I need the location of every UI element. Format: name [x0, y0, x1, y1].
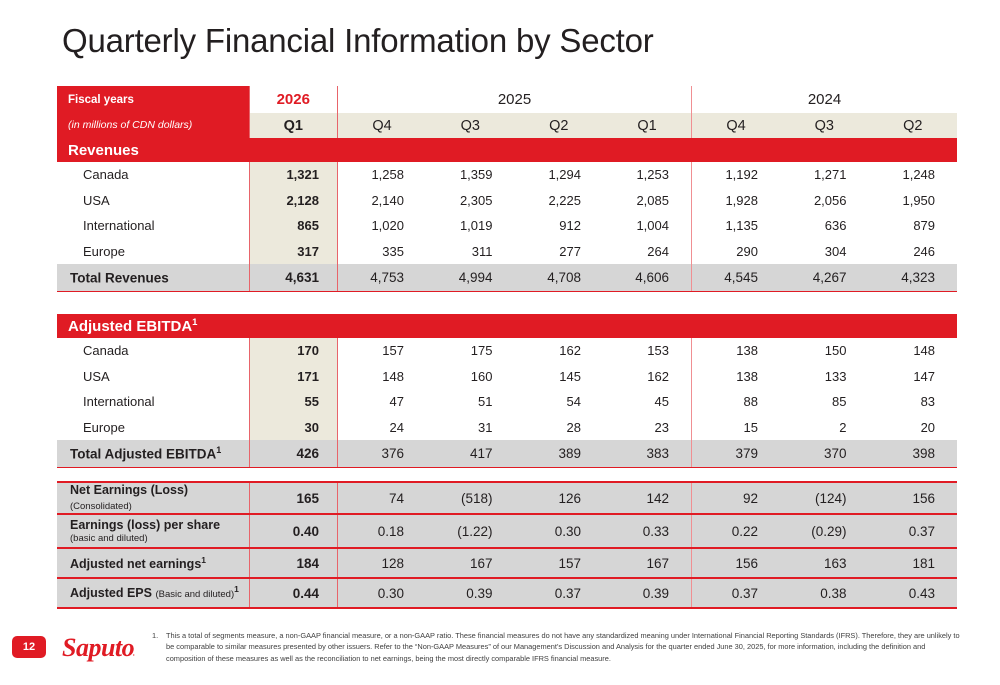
summary-sub-block: (basic and diluted) [70, 534, 249, 545]
table-row: USA 2,128 2,140 2,305 2,225 2,085 1,928 … [57, 188, 957, 214]
adj-eps-2025q4: 0.30 [338, 578, 427, 608]
summary-footnote-marker: 1 [201, 555, 206, 565]
total-ebitda-2025q1: 383 [603, 440, 692, 468]
cell-ebitda-international-2024q3: 85 [780, 389, 869, 415]
cell-revenues-canada-2025q4: 1,258 [338, 162, 427, 188]
summary-row-net-earnings: Net Earnings (Loss) (Consolidated) 165 7… [57, 482, 957, 514]
footnote-number: 1. [152, 630, 158, 641]
quarter-header-2025-q1: Q1 [603, 113, 692, 138]
cell-ebitda-europe-2026q1: 30 [249, 415, 338, 441]
cell-revenues-usa-2025q2: 2,225 [515, 188, 604, 214]
summary-sub-inline: (Basic and diluted) [155, 590, 234, 601]
summary-label-text: Earnings (loss) per share [70, 518, 220, 532]
adj-net-earnings-2025q2: 157 [515, 548, 604, 578]
cell-ebitda-canada-2024q2: 148 [869, 338, 958, 364]
page-number-badge: 12 [12, 636, 46, 658]
adj-net-earnings-2025q3: 167 [426, 548, 515, 578]
row-label-revenues-international: International [57, 213, 249, 239]
eps-2025q4: 0.18 [338, 514, 427, 548]
cell-ebitda-usa-2024q2: 147 [869, 364, 958, 390]
total-revenues-2025q3: 4,994 [426, 264, 515, 292]
cell-ebitda-international-2024q2: 83 [869, 389, 958, 415]
net-earnings-2025q4: 74 [338, 482, 427, 514]
quarter-header-2024-q4: Q4 [692, 113, 781, 138]
cell-ebitda-europe-2025q1: 23 [603, 415, 692, 441]
footnote: 1. This a total of segments measure, a n… [152, 630, 960, 664]
net-earnings-2024q3: (124) [780, 482, 869, 514]
header-year-row: Fiscal years (in millions of CDN dollars… [57, 86, 957, 113]
cell-revenues-international-2024q2: 879 [869, 213, 958, 239]
cell-ebitda-canada-2026q1: 170 [249, 338, 338, 364]
summary-label-text: Adjusted net earnings [70, 557, 201, 571]
row-label-revenues-canada: Canada [57, 162, 249, 188]
cell-ebitda-usa-2024q4: 138 [692, 364, 781, 390]
section-footnote-marker: 1 [192, 317, 197, 328]
units-label: (in millions of CDN dollars) [68, 119, 249, 131]
total-revenues-2025q2: 4,708 [515, 264, 604, 292]
total-revenues-2025q4: 4,753 [338, 264, 427, 292]
cell-revenues-usa-2026q1: 2,128 [249, 188, 338, 214]
cell-ebitda-usa-2025q3: 160 [426, 364, 515, 390]
total-label-text: Total Adjusted EBITDA [70, 447, 216, 462]
cell-revenues-europe-2026q1: 317 [249, 239, 338, 265]
cell-revenues-international-2024q3: 636 [780, 213, 869, 239]
fiscal-years-label: Fiscal years [68, 94, 249, 106]
cell-ebitda-europe-2024q2: 20 [869, 415, 958, 441]
quarter-header-2026-q1: Q1 [249, 113, 338, 138]
total-ebitda-2024q3: 370 [780, 440, 869, 468]
total-revenues-2024q4: 4,545 [692, 264, 781, 292]
total-label-text: Total Revenues [70, 271, 169, 286]
cell-revenues-canada-2024q3: 1,271 [780, 162, 869, 188]
adj-eps-2025q3: 0.39 [426, 578, 515, 608]
year-header-2025: 2025 [338, 86, 692, 113]
adj-net-earnings-2024q2: 181 [869, 548, 958, 578]
table-row: USA 171 148 160 145 162 138 133 147 [57, 364, 957, 390]
cell-revenues-europe-2025q1: 264 [603, 239, 692, 265]
section-header-adjusted-ebitda: Adjusted EBITDA1 [57, 314, 957, 338]
total-revenues-2024q3: 4,267 [780, 264, 869, 292]
summary-label-text: Net Earnings (Loss) [70, 483, 188, 497]
cell-ebitda-canada-2025q3: 175 [426, 338, 515, 364]
cell-revenues-canada-2026q1: 1,321 [249, 162, 338, 188]
row-label-revenues-europe: Europe [57, 239, 249, 265]
summary-label-text: Adjusted EPS [70, 587, 152, 601]
logo-text: Saputo [62, 633, 134, 662]
summary-label-eps: Earnings (loss) per share (basic and dil… [57, 514, 249, 548]
summary-label-adjusted-eps: Adjusted EPS (Basic and diluted)1 [57, 578, 249, 608]
row-label-ebitda-europe: Europe [57, 415, 249, 441]
footnote-text: This a total of segments measure, a non-… [152, 630, 960, 664]
cell-revenues-international-2026q1: 865 [249, 213, 338, 239]
cell-revenues-canada-2025q2: 1,294 [515, 162, 604, 188]
cell-ebitda-international-2025q3: 51 [426, 389, 515, 415]
cell-revenues-canada-2025q3: 1,359 [426, 162, 515, 188]
adj-eps-2024q2: 0.43 [869, 578, 958, 608]
row-label-ebitda-international: International [57, 389, 249, 415]
cell-ebitda-usa-2025q4: 148 [338, 364, 427, 390]
table-row: Europe 317 335 311 277 264 290 304 246 [57, 239, 957, 265]
section-title-adjusted-ebitda: Adjusted EBITDA1 [57, 314, 957, 338]
cell-revenues-usa-2024q3: 2,056 [780, 188, 869, 214]
cell-revenues-usa-2024q4: 1,928 [692, 188, 781, 214]
quarter-header-2024-q3: Q3 [780, 113, 869, 138]
section-title-revenues: Revenues [57, 138, 957, 162]
fiscal-years-label-block: Fiscal years (in millions of CDN dollars… [57, 86, 249, 138]
total-label-adjusted-ebitda: Total Adjusted EBITDA1 [57, 440, 249, 468]
cell-ebitda-europe-2025q3: 31 [426, 415, 515, 441]
cell-ebitda-canada-2024q3: 150 [780, 338, 869, 364]
quarter-header-2025-q2: Q2 [515, 113, 604, 138]
total-revenues-2025q1: 4,606 [603, 264, 692, 292]
adj-net-earnings-2025q4: 128 [338, 548, 427, 578]
cell-ebitda-usa-2025q2: 145 [515, 364, 604, 390]
cell-ebitda-europe-2024q4: 15 [692, 415, 781, 441]
summary-label-adjusted-net-earnings: Adjusted net earnings1 [57, 548, 249, 578]
cell-ebitda-europe-2025q2: 28 [515, 415, 604, 441]
summary-spacer [57, 468, 957, 483]
total-row-adjusted-ebitda: Total Adjusted EBITDA1 426 376 417 389 3… [57, 440, 957, 468]
cell-revenues-usa-2025q1: 2,085 [603, 188, 692, 214]
total-revenues-2024q2: 4,323 [869, 264, 958, 292]
table-row: Canada 1,321 1,258 1,359 1,294 1,253 1,1… [57, 162, 957, 188]
table-row: Canada 170 157 175 162 153 138 150 148 [57, 338, 957, 364]
summary-label-net-earnings: Net Earnings (Loss) (Consolidated) [57, 482, 249, 514]
eps-2024q2: 0.37 [869, 514, 958, 548]
eps-2024q3: (0.29) [780, 514, 869, 548]
cell-revenues-europe-2025q2: 277 [515, 239, 604, 265]
cell-revenues-europe-2024q2: 246 [869, 239, 958, 265]
net-earnings-2024q2: 156 [869, 482, 958, 514]
cell-revenues-canada-2024q4: 1,192 [692, 162, 781, 188]
net-earnings-2026q1: 165 [249, 482, 338, 514]
table-row: International 865 1,020 1,019 912 1,004 … [57, 213, 957, 239]
spacer-cell [57, 292, 957, 315]
total-ebitda-2025q3: 417 [426, 440, 515, 468]
total-ebitda-2026q1: 426 [249, 440, 338, 468]
summary-footnote-marker: 1 [234, 584, 239, 594]
cell-ebitda-usa-2024q3: 133 [780, 364, 869, 390]
cell-revenues-canada-2024q2: 1,248 [869, 162, 958, 188]
cell-revenues-europe-2025q4: 335 [338, 239, 427, 265]
eps-2026q1: 0.40 [249, 514, 338, 548]
saputo-logo: Saputo [62, 633, 134, 663]
quarter-header-2024-q2: Q2 [869, 113, 958, 138]
table-row: Europe 30 24 31 28 23 15 2 20 [57, 415, 957, 441]
cell-revenues-international-2024q4: 1,135 [692, 213, 781, 239]
cell-ebitda-international-2025q2: 54 [515, 389, 604, 415]
table-row: International 55 47 51 54 45 88 85 83 [57, 389, 957, 415]
quarterly-financial-table: Fiscal years (in millions of CDN dollars… [57, 86, 957, 609]
row-label-ebitda-usa: USA [57, 364, 249, 390]
adj-eps-2024q3: 0.38 [780, 578, 869, 608]
net-earnings-2024q4: 92 [692, 482, 781, 514]
year-header-2026: 2026 [249, 86, 338, 113]
summary-row-eps: Earnings (loss) per share (basic and dil… [57, 514, 957, 548]
cell-ebitda-europe-2025q4: 24 [338, 415, 427, 441]
summary-row-adjusted-net-earnings: Adjusted net earnings1 184 128 167 157 1… [57, 548, 957, 578]
adj-net-earnings-2024q3: 163 [780, 548, 869, 578]
cell-revenues-usa-2025q3: 2,305 [426, 188, 515, 214]
cell-revenues-canada-2025q1: 1,253 [603, 162, 692, 188]
cell-revenues-international-2025q3: 1,019 [426, 213, 515, 239]
section-label: Revenues [68, 142, 139, 159]
section-spacer [57, 292, 957, 315]
adj-eps-2024q4: 0.37 [692, 578, 781, 608]
adj-net-earnings-2024q4: 156 [692, 548, 781, 578]
total-ebitda-2025q4: 376 [338, 440, 427, 468]
section-label: Adjusted EBITDA [68, 318, 192, 335]
adj-eps-2026q1: 0.44 [249, 578, 338, 608]
total-ebitda-2025q2: 389 [515, 440, 604, 468]
cell-revenues-europe-2024q3: 304 [780, 239, 869, 265]
total-label-revenues: Total Revenues [57, 264, 249, 292]
adj-eps-2025q2: 0.37 [515, 578, 604, 608]
cell-ebitda-international-2025q4: 47 [338, 389, 427, 415]
cell-ebitda-canada-2025q4: 157 [338, 338, 427, 364]
total-row-revenues: Total Revenues 4,631 4,753 4,994 4,708 4… [57, 264, 957, 292]
cell-ebitda-international-2024q4: 88 [692, 389, 781, 415]
page-title: Quarterly Financial Information by Secto… [62, 22, 654, 60]
net-earnings-2025q2: 126 [515, 482, 604, 514]
adj-net-earnings-2026q1: 184 [249, 548, 338, 578]
spacer-cell [57, 468, 957, 483]
net-earnings-2025q3: (518) [426, 482, 515, 514]
cell-ebitda-canada-2025q1: 153 [603, 338, 692, 364]
cell-ebitda-usa-2025q1: 162 [603, 364, 692, 390]
financial-table-container: Fiscal years (in millions of CDN dollars… [57, 86, 957, 609]
cell-revenues-international-2025q2: 912 [515, 213, 604, 239]
adj-net-earnings-2025q1: 167 [603, 548, 692, 578]
total-ebitda-2024q4: 379 [692, 440, 781, 468]
total-footnote-marker: 1 [216, 445, 221, 455]
eps-2024q4: 0.22 [692, 514, 781, 548]
cell-revenues-usa-2024q2: 1,950 [869, 188, 958, 214]
eps-2025q2: 0.30 [515, 514, 604, 548]
quarter-header-2025-q3: Q3 [426, 113, 515, 138]
cell-ebitda-international-2026q1: 55 [249, 389, 338, 415]
eps-2025q1: 0.33 [603, 514, 692, 548]
adj-eps-2025q1: 0.39 [603, 578, 692, 608]
summary-row-adjusted-eps: Adjusted EPS (Basic and diluted)1 0.44 0… [57, 578, 957, 608]
cell-ebitda-europe-2024q3: 2 [780, 415, 869, 441]
eps-2025q3: (1.22) [426, 514, 515, 548]
section-header-revenues: Revenues [57, 138, 957, 162]
total-revenues-2026q1: 4,631 [249, 264, 338, 292]
row-label-revenues-usa: USA [57, 188, 249, 214]
net-earnings-2025q1: 142 [603, 482, 692, 514]
cell-revenues-europe-2024q4: 290 [692, 239, 781, 265]
cell-ebitda-usa-2026q1: 171 [249, 364, 338, 390]
cell-revenues-europe-2025q3: 311 [426, 239, 515, 265]
cell-revenues-international-2025q1: 1,004 [603, 213, 692, 239]
quarter-header-2025-q4: Q4 [338, 113, 427, 138]
table-body: Fiscal years (in millions of CDN dollars… [57, 86, 957, 608]
year-header-2024: 2024 [692, 86, 958, 113]
cell-revenues-international-2025q4: 1,020 [338, 213, 427, 239]
cell-ebitda-canada-2024q4: 138 [692, 338, 781, 364]
summary-sub-inline: (Consolidated) [70, 502, 132, 513]
cell-ebitda-canada-2025q2: 162 [515, 338, 604, 364]
total-ebitda-2024q2: 398 [869, 440, 958, 468]
cell-revenues-usa-2025q4: 2,140 [338, 188, 427, 214]
cell-ebitda-international-2025q1: 45 [603, 389, 692, 415]
row-label-ebitda-canada: Canada [57, 338, 249, 364]
